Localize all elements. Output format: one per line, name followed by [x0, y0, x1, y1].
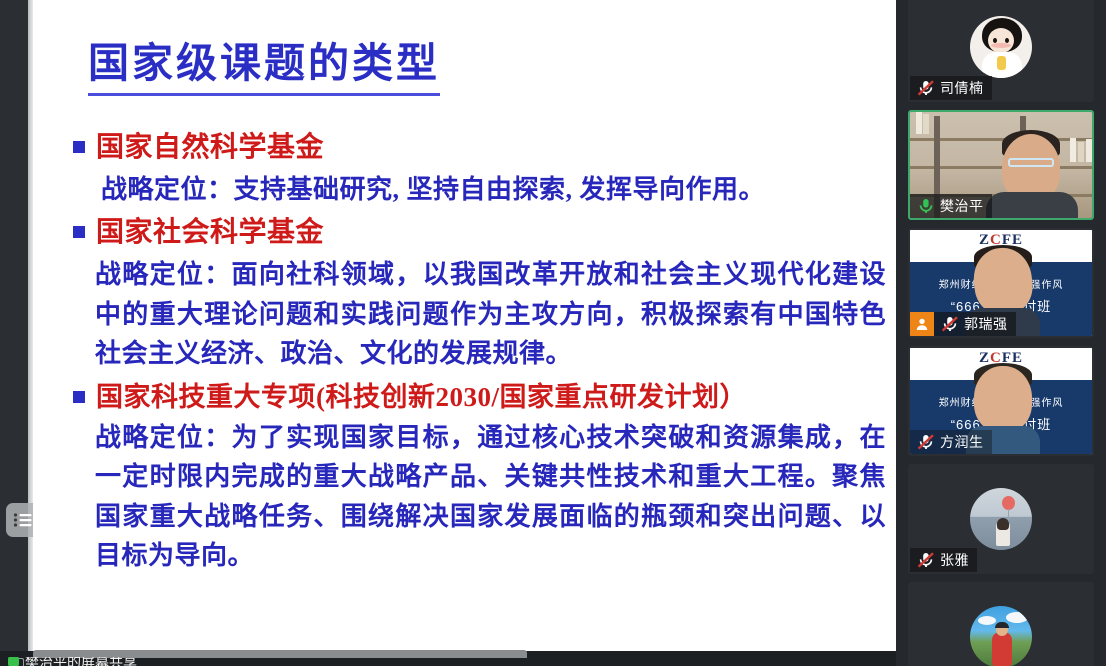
mic-muted-icon [915, 77, 937, 99]
participant-tile[interactable]: 焦建伟 [908, 582, 1094, 666]
bullet-square-icon [73, 141, 85, 153]
participant-nameplate: 樊治平 [910, 194, 992, 218]
participant-tile[interactable]: 张雅 [908, 464, 1094, 574]
participant-filmstrip[interactable]: 司倩楠 [896, 0, 1106, 666]
mic-muted-icon [915, 431, 937, 453]
participant-nameplate: 方润生 [910, 430, 992, 454]
filmstrip-scrollbar[interactable] [1102, 0, 1105, 666]
avatar [970, 606, 1032, 666]
bullet-body: 战略定位：为了实现国家目标，通过核心技术突破和资源集成，在一定时限内完成的重大战… [73, 418, 886, 576]
bullet-body: 战略定位：面向社科领域，以我国改革开放和社会主义现代化建设中的重大理论问题和实践… [73, 255, 886, 374]
slide-title: 国家级课题的类型 [88, 40, 440, 96]
bullet-square-icon [73, 226, 85, 238]
participant-name: 张雅 [940, 553, 969, 567]
participant-nameplate: 司倩楠 [910, 76, 992, 100]
avatar [970, 488, 1032, 550]
participant-name: 郭瑞强 [964, 317, 1008, 331]
participant-tile[interactable]: ZCFE 郑州财经学院 郑州财经学院 能力强作风 “666” 讨 研讨班 [908, 346, 1094, 456]
participant-tile[interactable]: 樊治平 [908, 110, 1094, 220]
bullet-heading: 国家自然科学基金 [96, 128, 324, 168]
bullet-heading-row: 国家科技重大专项(科技创新2030/国家重点研发计划） [73, 378, 886, 416]
participant-tile[interactable]: 司倩楠 [908, 0, 1094, 102]
mic-muted-icon [915, 549, 937, 571]
participant-name: 方润生 [940, 435, 984, 449]
filmstrip-scroll-area: 司倩楠 [896, 0, 1106, 666]
bullet-block: 国家自然科学基金 战略定位：支持基础研究, 坚持自由探索, 发挥导向作用。 [73, 128, 886, 209]
bullet-heading: 国家社会科学基金 [96, 213, 324, 253]
screen-share-owner: 樊治平的屏幕共享 [25, 657, 137, 666]
screen-share-label: 樊治平的屏幕共享 [8, 657, 137, 666]
meeting-screen-share-view: 国家级课题的类型 国家自然科学基金 战略定位：支持基础研究, 坚持自由探索, 发… [0, 0, 1106, 666]
slide-bullet-list: 国家自然科学基金 战略定位：支持基础研究, 坚持自由探索, 发挥导向作用。 国家… [73, 128, 886, 580]
bullet-block: 国家社会科学基金 战略定位：面向社科领域，以我国改革开放和社会主义现代化建设中的… [73, 213, 886, 373]
mic-on-icon [8, 657, 19, 666]
mic-on-icon [915, 195, 937, 217]
participant-name: 司倩楠 [940, 81, 984, 95]
shared-slide: 国家级课题的类型 国家自然科学基金 战略定位：支持基础研究, 坚持自由探索, 发… [33, 0, 896, 654]
bullet-heading-row: 国家自然科学基金 [73, 128, 886, 168]
bullet-square-icon [73, 391, 85, 403]
bullet-heading: 国家科技重大专项(科技创新2030/国家重点研发计划） [96, 378, 747, 416]
bullet-heading-row: 国家社会科学基金 [73, 213, 886, 253]
bullet-block: 国家科技重大专项(科技创新2030/国家重点研发计划） 战略定位：为了实现国家目… [73, 378, 886, 576]
participant-nameplate: 郭瑞强 [910, 312, 1016, 336]
list-panel-icon [13, 512, 33, 528]
participant-name: 樊治平 [940, 199, 984, 213]
host-badge-icon [910, 312, 934, 336]
left-gutter [0, 0, 28, 666]
participant-nameplate: 张雅 [910, 548, 977, 572]
participant-tile[interactable]: ZCFE 郑州财经学院 郑州财经学院 能力强作风 “666” 讨 研讨班 [908, 228, 1094, 338]
avatar [970, 16, 1032, 78]
avatar-background [910, 584, 1092, 666]
bullet-body: 战略定位：支持基础研究, 坚持自由探索, 发挥导向作用。 [73, 170, 886, 210]
mic-muted-icon [939, 313, 961, 335]
